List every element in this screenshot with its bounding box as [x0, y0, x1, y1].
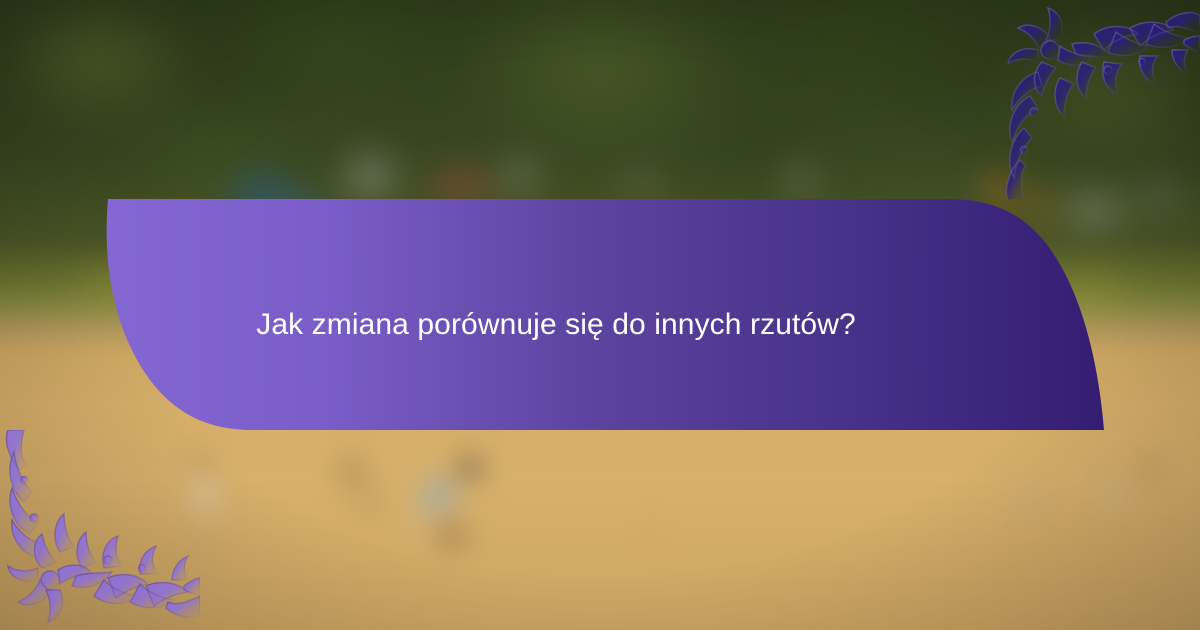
social-card: Jak zmiana porównuje się do innych rzutó…: [0, 0, 1200, 630]
banner-title: Jak zmiana porównuje się do innych rzutó…: [126, 305, 986, 345]
